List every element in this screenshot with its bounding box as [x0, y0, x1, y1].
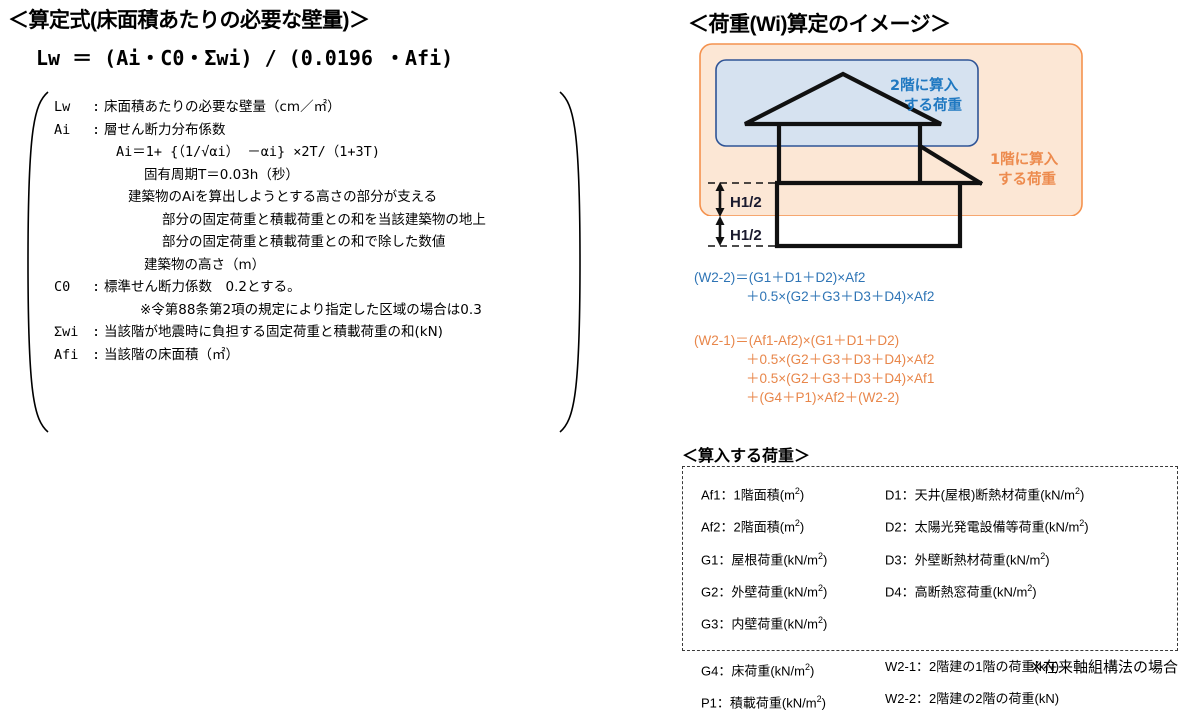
second-floor-label-line2: する荷重	[904, 96, 962, 114]
definition-row: Σwi:当該階が地震時に負担する固定荷重と積載荷重の和(kN)	[54, 321, 574, 344]
legend-row: Af1：1階面積(m2) D1：天井(屋根)断熱材荷重(kN/m2)	[701, 477, 1171, 509]
legend-box: Af1：1階面積(m2) D1：天井(屋根)断熱材荷重(kN/m2) Af2：2…	[682, 466, 1178, 651]
left-paren-icon	[24, 90, 50, 434]
legend-cell-left: Af2：2階面積(m2)	[701, 509, 885, 541]
equation-w2-2-line2: ＋0.5×(G2＋G3＋D3＋D4)×Af2	[694, 287, 934, 306]
legend-cell-right: D1：天井(屋根)断熱材荷重(kN/m2)	[885, 477, 1165, 509]
formula-section-title: ＜算定式(床面積あたりの必要な壁量)＞	[8, 4, 608, 34]
legend-row: P1：積載荷重(kN/m2) W2-2：2階建の2階の荷重(kN)	[701, 685, 1171, 717]
formula-section: ＜算定式(床面積あたりの必要な壁量)＞ Lw ＝ (Ai・C0・Σwi) / (…	[8, 4, 608, 444]
legend-row: G2：外壁荷重(kN/m2) D4：高断熱窓荷重(kN/m2)	[701, 574, 1171, 606]
equation-w2-2-line1: (W2-2)＝(G1＋D1＋D2)×Af2	[694, 270, 865, 285]
legend-cell-left: G3：内壁荷重(kN/m2)	[701, 606, 885, 638]
definition-row: ※令第88条第2項の規定により指定した区域の場合は0.3	[54, 299, 574, 322]
load-image-section: ＜荷重(Wi)算定のイメージ＞	[672, 4, 1186, 680]
equation-w2-2: (W2-2)＝(G1＋D1＋D2)×Af2 ＋0.5×(G2＋G3＋D3＋D4)…	[694, 268, 934, 306]
equation-w2-1-line2: ＋0.5×(G2＋G3＋D3＋D4)×Af2	[694, 350, 934, 369]
legend-cell-left: Af1：1階面積(m2)	[701, 477, 885, 509]
legend-cell-left: G1：屋根荷重(kN/m2)	[701, 542, 885, 574]
legend-cell-left: G2：外壁荷重(kN/m2)	[701, 574, 885, 606]
house-load-diagram: H1/2 H1/2 2階に算入 する荷重 1階に算入 する荷重	[690, 42, 1090, 254]
legend-cell-left: P1：積載荷重(kN/m2)	[701, 685, 885, 717]
legend-cell-right: D3：外壁断熱材荷重(kN/m2)	[885, 542, 1165, 574]
definition-row: Ai＝1+ {（1/√αi） －αi} ×2T/（1+3T)	[54, 141, 574, 164]
legend-spacer	[701, 639, 1171, 653]
load-section-title: ＜荷重(Wi)算定のイメージ＞	[688, 8, 951, 38]
definition-row: 固有周期T＝0.03h（秒）	[54, 164, 574, 187]
definition-row: 部分の固定荷重と積載荷重との和で除した数値	[54, 231, 574, 254]
main-formula: Lw ＝ (Ai・C0・Σwi) / (0.0196 ・Afi)	[36, 42, 453, 71]
legend-title: ＜算入する荷重＞	[682, 442, 810, 466]
definition-row: Lw:床面積あたりの必要な壁量（cm／㎡）	[54, 96, 574, 119]
definition-list: Lw:床面積あたりの必要な壁量（cm／㎡） Ai:層せん断力分布係数 Ai＝1+…	[54, 96, 574, 366]
definition-block: Lw:床面積あたりの必要な壁量（cm／㎡） Ai:層せん断力分布係数 Ai＝1+…	[24, 90, 604, 440]
legend-row: G1：屋根荷重(kN/m2) D3：外壁断熱材荷重(kN/m2)	[701, 542, 1171, 574]
legend-row: G3：内壁荷重(kN/m2)	[701, 606, 1171, 638]
first-floor-label-line2: する荷重	[998, 170, 1056, 188]
equation-w2-1-line3: ＋0.5×(G2＋G3＋D3＋D4)×Af1	[694, 369, 934, 388]
legend-cell-right: D4：高断熱窓荷重(kN/m2)	[885, 574, 1165, 606]
definition-row: 建築物のAiを算出しようとする高さの部分が支える	[54, 186, 574, 209]
equation-w2-1-line4: ＋(G4＋P1)×Af2＋(W2-2)	[694, 388, 934, 407]
legend-grid: Af1：1階面積(m2) D1：天井(屋根)断熱材荷重(kN/m2) Af2：2…	[701, 477, 1171, 717]
definition-row: Ai:層せん断力分布係数	[54, 119, 574, 142]
dim-label-upper: H1/2	[730, 194, 762, 211]
definition-row: 建築物の高さ（m）	[54, 254, 574, 277]
equation-w2-1-line1: (W2-1)＝(Af1-Af2)×(G1＋D1＋D2)	[694, 333, 899, 348]
legend-cell-right	[885, 606, 1165, 638]
footnote: ※在来軸組構法の場合	[672, 656, 1186, 677]
legend-cell-right: D2：太陽光発電設備等荷重(kN/m2)	[885, 509, 1165, 541]
first-floor-label-line1: 1階に算入	[990, 150, 1059, 168]
second-floor-label-line1: 2階に算入	[890, 76, 959, 94]
definition-row: C0:標準せん断力係数 0.2とする。	[54, 276, 574, 299]
definition-row: 部分の固定荷重と積載荷重との和を当該建築物の地上	[54, 209, 574, 232]
dim-label-lower: H1/2	[730, 227, 762, 244]
legend-cell-right: W2-2：2階建の2階の荷重(kN)	[885, 685, 1165, 717]
definition-row: Afi:当該階の床面積（㎡）	[54, 344, 574, 367]
legend-row: Af2：2階面積(m2) D2：太陽光発電設備等荷重(kN/m2)	[701, 509, 1171, 541]
equation-w2-1: (W2-1)＝(Af1-Af2)×(G1＋D1＋D2) ＋0.5×(G2＋G3＋…	[694, 331, 934, 407]
